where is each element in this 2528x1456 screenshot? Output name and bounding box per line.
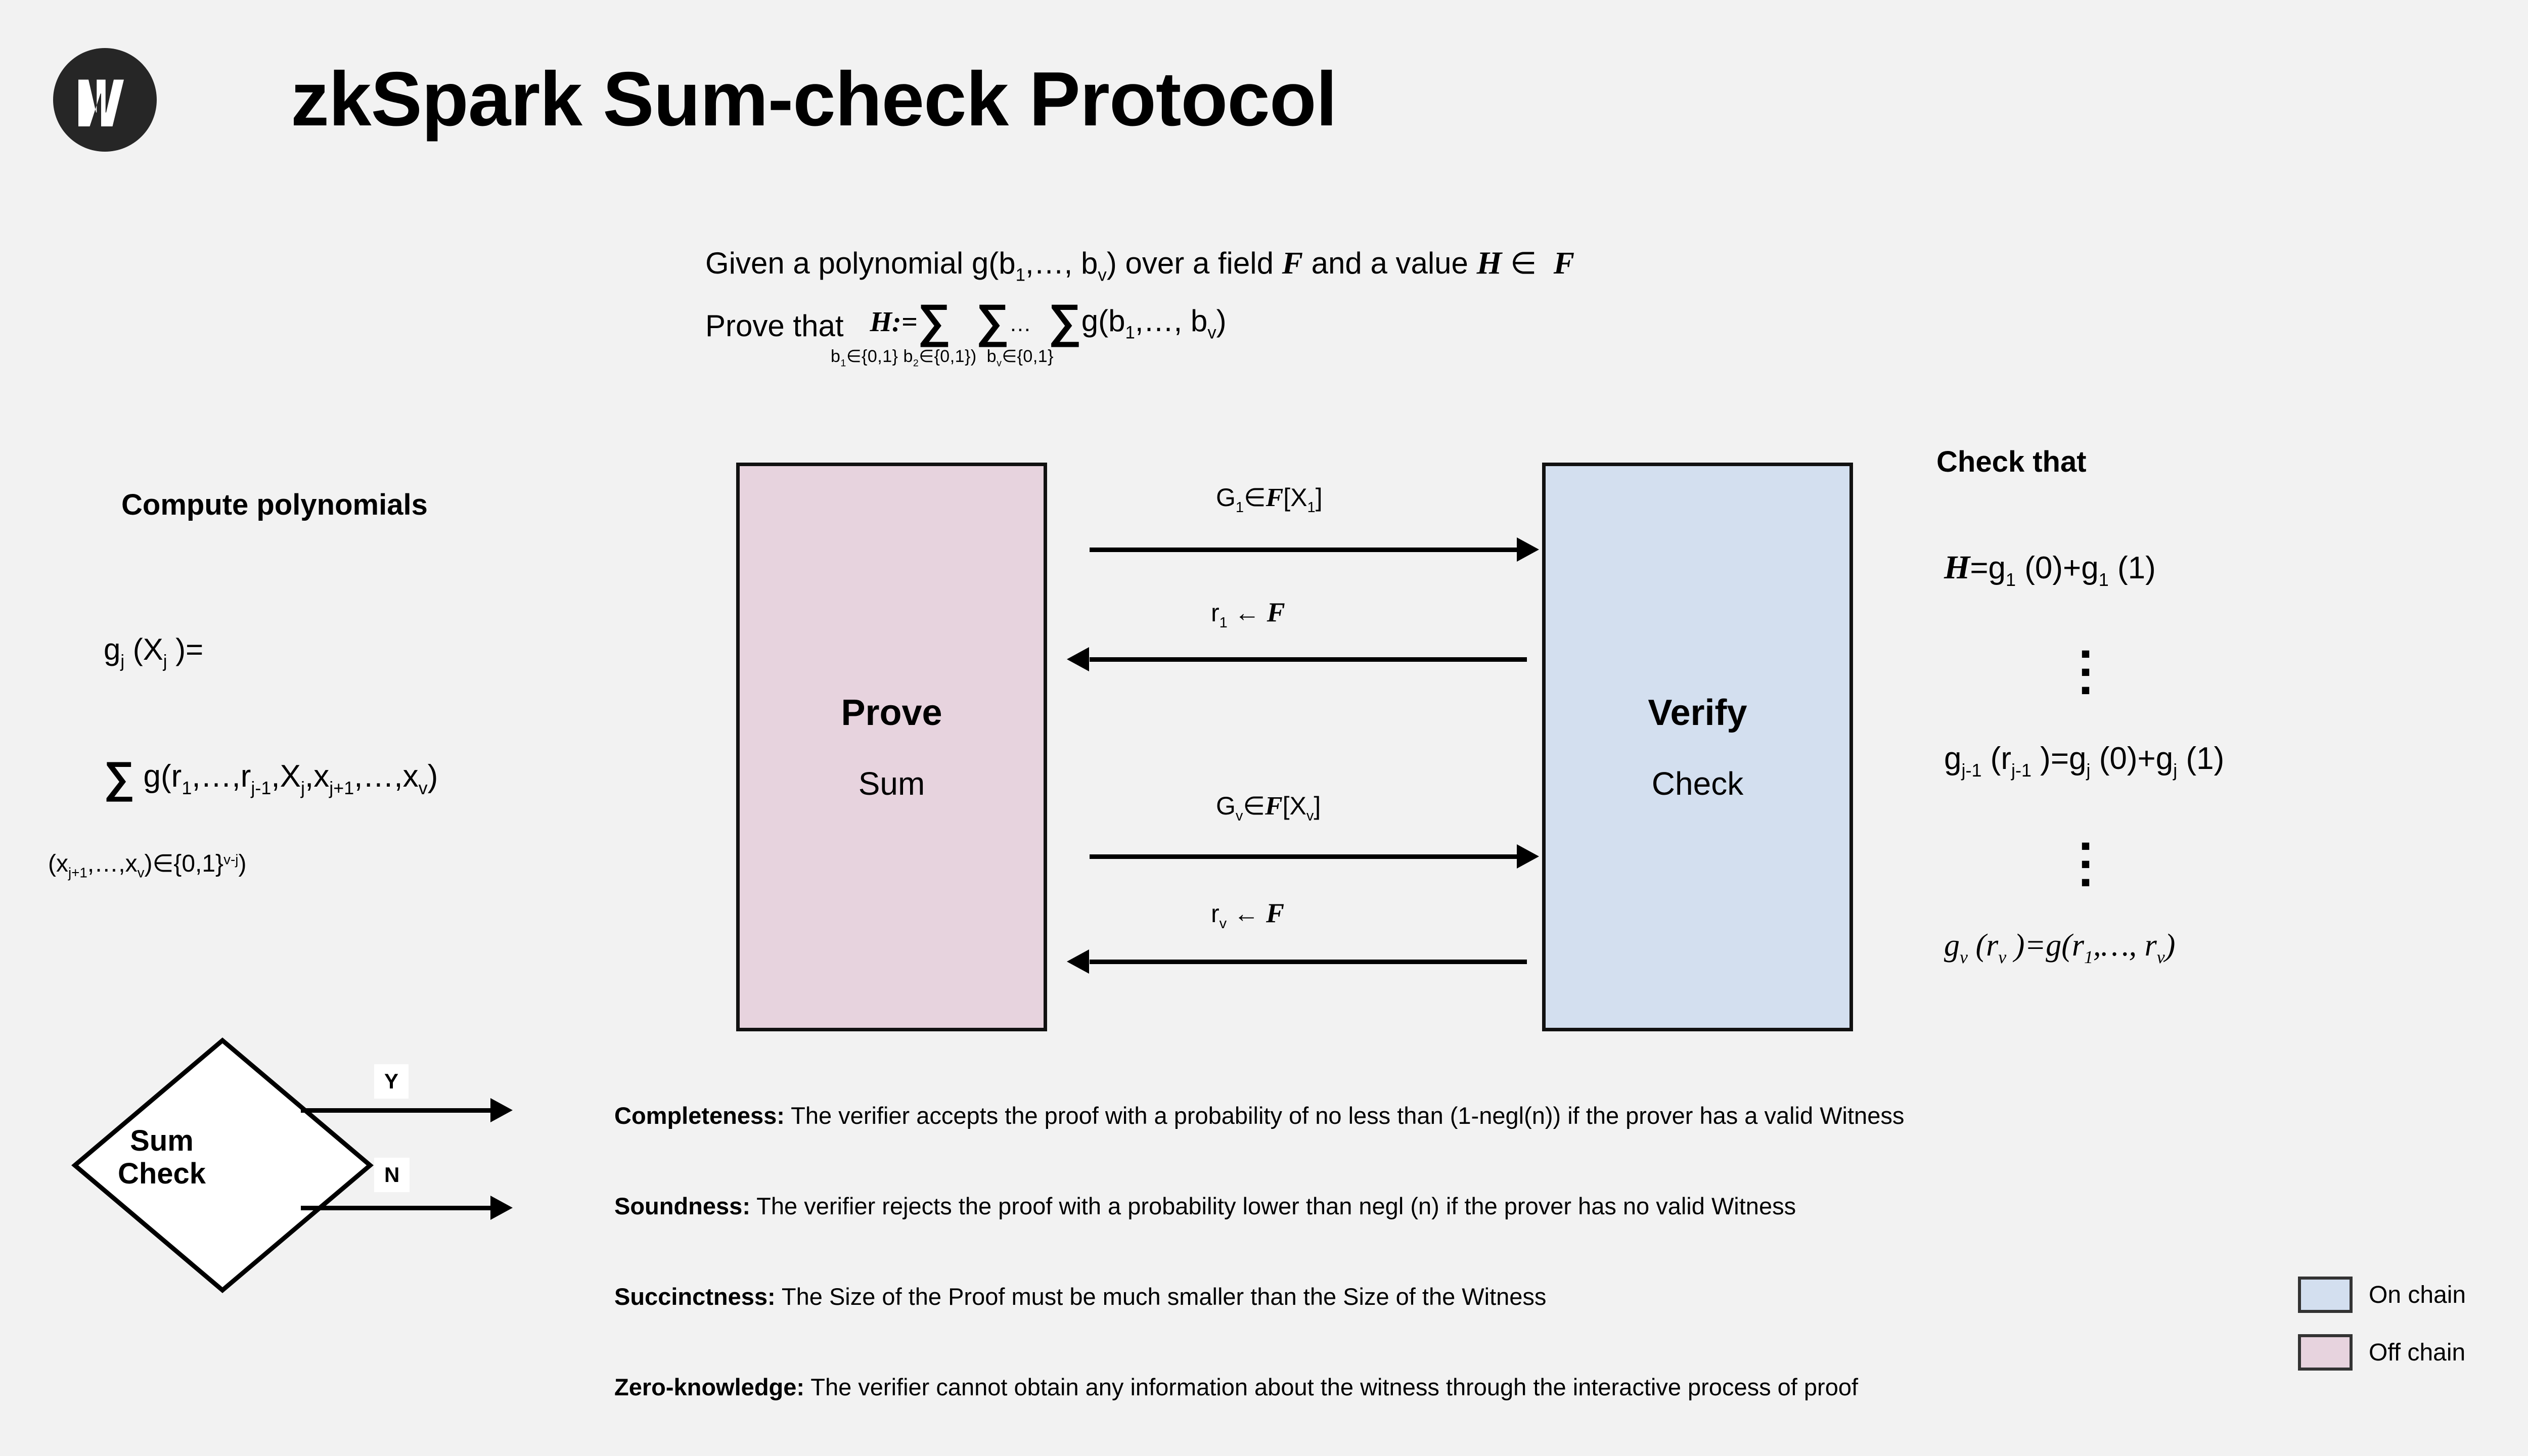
check-equation-1: H=g1 (0)+g1 (1) xyxy=(1944,549,2156,590)
message-3-arrow xyxy=(1090,854,1527,859)
sum-cond-3: bv∈{0,1} xyxy=(987,347,1054,366)
property-soundness-text: The verifier rejects the proof with a pr… xyxy=(750,1193,1796,1219)
message-2-arrowhead-icon xyxy=(1067,647,1089,671)
branch-no-arrow xyxy=(301,1206,501,1210)
message-2-arrow xyxy=(1090,657,1527,662)
message-1-arrowhead-icon xyxy=(1517,537,1539,562)
property-succinctness: Succinctness: The Size of the Proof must… xyxy=(614,1283,2283,1310)
branch-yes-arrowhead-icon xyxy=(490,1098,513,1122)
property-soundness: Soundness: The verifier rejects the proo… xyxy=(614,1193,2283,1220)
cond-sup: v-j xyxy=(223,852,238,868)
header: zkSpark Sum-check Protocol xyxy=(0,0,2528,202)
prove-sub-v: v xyxy=(1207,323,1216,343)
prove-h: H:= xyxy=(870,306,918,338)
sum-ellipsis: … xyxy=(1009,311,1031,336)
message-4-label: rv ← F xyxy=(1211,897,1284,932)
cond-c: )∈{0,1} xyxy=(145,850,224,877)
legend-swatch-off-chain xyxy=(2298,1334,2353,1371)
check-equation-3: gv (rv )=g(r1,…, rv) xyxy=(1944,928,2175,968)
check-that-heading: Check that xyxy=(1936,445,2087,479)
sum-index-conditions: b1∈{0,1} b2∈{0,1}) bv∈{0,1} xyxy=(831,346,2121,369)
prover-title: Prove xyxy=(841,692,942,734)
given-mid: ,…, b xyxy=(1025,246,1098,280)
sum-expr-c: ,X xyxy=(271,759,301,794)
left-sum-symbol: ∑ xyxy=(104,753,134,801)
decision-label-line2: Check xyxy=(96,1158,228,1191)
verifier-box[interactable]: Verify Check xyxy=(1542,463,1853,1031)
gj-sub-2: j xyxy=(163,652,167,671)
problem-statement: Given a polynomial g(b1,…, bv) over a fi… xyxy=(705,243,2121,369)
branch-yes-label: Y xyxy=(374,1064,409,1099)
message-1-label: G1∈F[X1] xyxy=(1216,483,1323,516)
gj-sub: j xyxy=(120,652,124,671)
gj-sum-expression: ∑ g(r1,…,rj-1,Xj,xj+1,…,xv) xyxy=(104,758,438,799)
cond-sub-v: v xyxy=(138,865,145,881)
vertical-dots-1: ▪▪▪ xyxy=(2070,645,2101,699)
message-3-label: Gv∈F[Xv] xyxy=(1216,791,1321,825)
vertical-dots-2: ▪▪▪ xyxy=(2070,837,2101,891)
message-2-label: r1 ← F xyxy=(1211,597,1285,631)
check-equation-2: gj-1 (rj-1 )=gj (0)+gj (1) xyxy=(1944,741,2224,781)
cond-d: ) xyxy=(238,850,246,877)
sum-symbol-2: ∑ xyxy=(976,295,1009,347)
sum-symbol-1: ∑ xyxy=(918,295,951,347)
given-value-text: and a value xyxy=(1303,246,1477,280)
property-zero-knowledge-term: Zero-knowledge: xyxy=(614,1374,804,1400)
verifier-subtitle: Check xyxy=(1652,765,1743,802)
property-completeness-text: The verifier accepts the proof with a pr… xyxy=(785,1102,1904,1129)
gj-definition: gj (Xj )= xyxy=(104,632,203,672)
prover-subtitle: Sum xyxy=(859,765,925,802)
property-completeness-term: Completeness: xyxy=(614,1102,785,1129)
property-completeness: Completeness: The verifier accepts the p… xyxy=(614,1102,2283,1129)
legend-swatch-on-chain xyxy=(2298,1277,2353,1313)
statement-given-line: Given a polynomial g(b1,…, bv) over a fi… xyxy=(705,243,2121,286)
legend-item-off-chain: Off chain xyxy=(2298,1334,2466,1371)
message-1-arrow xyxy=(1090,548,1527,552)
property-succinctness-text: The Size of the Proof must be much small… xyxy=(776,1283,1547,1310)
statement-prove-line: Prove that H:=∑ ∑… ∑g(b1,…, bv) xyxy=(705,303,2121,343)
sum-sub-v: v xyxy=(419,778,428,798)
w-letter-icon xyxy=(73,68,137,131)
gj-base: g xyxy=(104,632,120,666)
field-symbol: F xyxy=(1282,246,1303,281)
message-4-arrowhead-icon xyxy=(1067,949,1089,974)
compute-polynomials-heading: Compute polynomials xyxy=(121,488,428,522)
cond-sub-jp1: j+1 xyxy=(68,865,87,881)
cond-a: (x xyxy=(48,850,68,877)
property-soundness-term: Soundness: xyxy=(614,1193,750,1219)
sum-expr-f: ) xyxy=(428,759,438,794)
sum-expr-b: ,…,r xyxy=(192,759,251,794)
sum-expr-d: ,x xyxy=(305,759,329,794)
sum-sub-jm1: j-1 xyxy=(251,778,271,798)
prove-that-label: Prove that xyxy=(705,308,844,343)
prove-formula: H:=∑ ∑… ∑g(b1,…, bv) xyxy=(870,303,1227,343)
decision-label-line1: Sum xyxy=(96,1125,228,1158)
given-sub-1: 1 xyxy=(1016,265,1025,285)
prove-sub-1: 1 xyxy=(1125,323,1135,343)
prove-g: g(b xyxy=(1081,304,1125,338)
legend-label-off-chain: Off chain xyxy=(2369,1339,2465,1367)
branch-no-arrowhead-icon xyxy=(490,1196,513,1220)
properties-list: Completeness: The verifier accepts the p… xyxy=(614,1102,2283,1401)
sum-symbol-3: ∑ xyxy=(1048,295,1081,347)
branch-no-label: N xyxy=(374,1158,410,1192)
property-zero-knowledge: Zero-knowledge: The verifier cannot obta… xyxy=(614,1374,2283,1401)
sum-sub-j: j xyxy=(301,778,305,798)
gj-sum-condition: (xj+1,…,xv)∈{0,1}v-j) xyxy=(48,849,246,881)
property-zero-knowledge-text: The verifier cannot obtain any informati… xyxy=(804,1374,1858,1400)
field-symbol-2: F xyxy=(1554,246,1574,281)
prover-box[interactable]: Prove Sum xyxy=(736,463,1047,1031)
given-prefix: Given a polynomial g(b xyxy=(705,246,1016,280)
sum-sub-jp1: j+1 xyxy=(329,778,354,798)
prove-close: ) xyxy=(1216,304,1227,338)
legend-item-on-chain: On chain xyxy=(2298,1277,2466,1313)
sum-expr-a: g(r xyxy=(134,759,182,794)
zkspark-logo xyxy=(53,48,157,152)
sum-cond-2: b2∈{0,1}) xyxy=(903,347,976,366)
message-4-arrow xyxy=(1090,960,1527,964)
cond-b: ,…,x xyxy=(87,850,138,877)
decision-label: Sum Check xyxy=(96,1125,228,1191)
legend-label-on-chain: On chain xyxy=(2369,1281,2466,1309)
branch-yes-arrow xyxy=(301,1108,501,1113)
given-after: ) over a field xyxy=(1107,246,1282,280)
property-succinctness-term: Succinctness: xyxy=(614,1283,776,1310)
member-symbol: ∈ xyxy=(1510,246,1537,280)
verifier-title: Verify xyxy=(1648,692,1747,734)
sum-cond-1: b1∈{0,1} xyxy=(831,347,898,366)
given-sub-v: v xyxy=(1098,265,1106,285)
prove-mid: ,…, b xyxy=(1135,304,1207,338)
message-3-arrowhead-icon xyxy=(1517,844,1539,869)
gj-paren-close: )= xyxy=(167,632,204,666)
sum-sub-1: 1 xyxy=(182,778,192,798)
legend: On chain Off chain xyxy=(2298,1277,2466,1371)
sum-expr-e: ,…,x xyxy=(354,759,418,794)
gj-paren-open: (X xyxy=(124,632,163,666)
page-title: zkSpark Sum-check Protocol xyxy=(291,61,1337,138)
h-symbol: H xyxy=(1477,245,1502,281)
